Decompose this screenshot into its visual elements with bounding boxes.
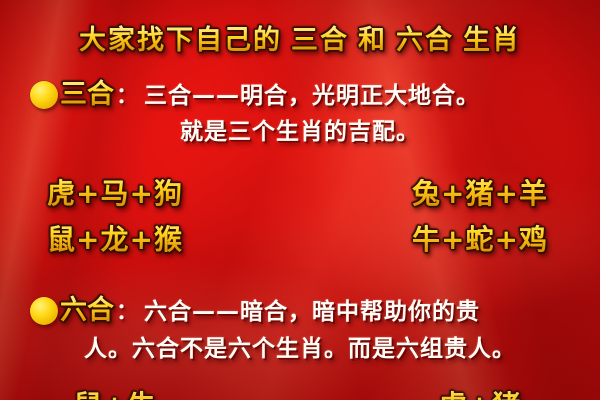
page-title: 大家找下自己的三合和六合生肖: [0, 18, 600, 57]
combo-cell-tiger-horse-dog: 虎+马+狗: [0, 172, 300, 212]
liuhe-combination-grid: 鼠+牛 虎+猪: [0, 384, 600, 400]
combo-cell-tiger-pig: 虎+猪: [300, 384, 600, 400]
combo-cell-rabbit-pig-goat: 兔+猪+羊: [300, 172, 600, 212]
title-part-zodiac: 生肖: [463, 25, 521, 56]
zodiac-poster: 大家找下自己的三合和六合生肖 三合：三合——明合，光明正大地合。 就是三个生肖的…: [0, 0, 600, 400]
liuhe-description-line2: 人。六合不是六个生肖。而是六组贵人。: [0, 329, 600, 363]
title-part-liuhe: 六合: [396, 25, 454, 56]
combo-cell-rat-ox: 鼠+牛: [0, 384, 300, 400]
title-part-and: 和: [358, 25, 387, 56]
title-part-intro: 大家找下自己的: [79, 25, 282, 56]
sanhe-description-line1: 三合——明合，光明正大地合。: [144, 83, 480, 109]
title-part-sanhe: 三合: [291, 25, 349, 56]
sanhe-term: 三合: [60, 79, 114, 110]
combo-cell-rat-dragon-monkey: 鼠+龙+猴: [0, 218, 300, 258]
sanhe-colon: ：: [116, 84, 138, 109]
gold-circle-bullet-icon: [30, 81, 58, 109]
combo-cell-ox-snake-rooster: 牛+蛇+鸡: [300, 218, 600, 258]
sanhe-heading-row: 三合：三合——明合，光明正大地合。: [0, 72, 600, 111]
liuhe-heading-row: 六合：六合——暗合，暗中帮助你的贵: [0, 288, 600, 327]
poster-content: 大家找下自己的三合和六合生肖 三合：三合——明合，光明正大地合。 就是三个生肖的…: [0, 0, 600, 400]
sanhe-description-line2: 就是三个生肖的吉配。: [0, 112, 600, 146]
gold-circle-bullet-icon: [30, 297, 58, 325]
liuhe-term: 六合: [60, 295, 114, 326]
liuhe-colon: ：: [116, 300, 138, 325]
liuhe-description-line1: 六合——暗合，暗中帮助你的贵: [144, 299, 480, 325]
sanhe-combination-grid: 虎+马+狗 兔+猪+羊 鼠+龙+猴 牛+蛇+鸡: [0, 172, 600, 258]
